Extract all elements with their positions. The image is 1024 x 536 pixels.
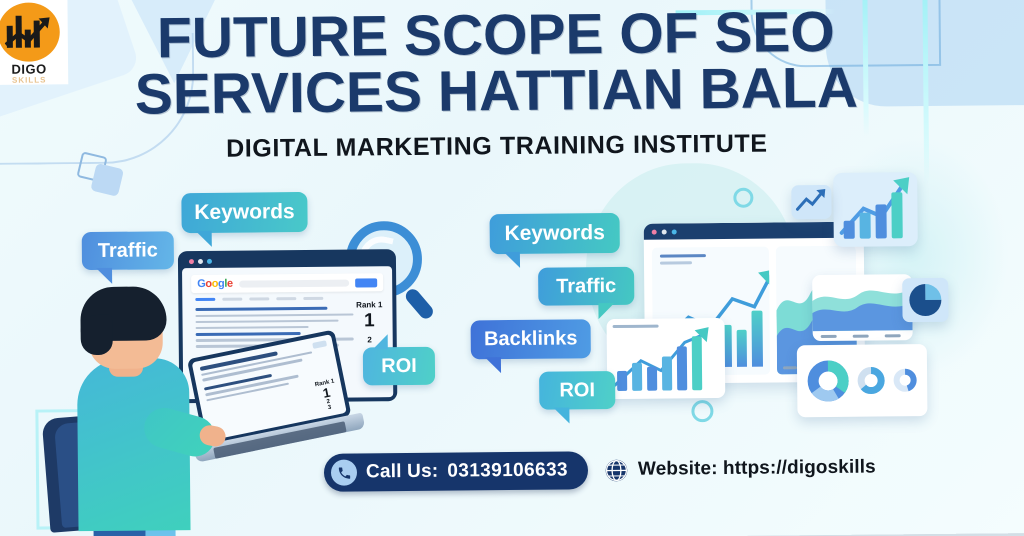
floating-card-donut-charts: [797, 344, 928, 417]
search-tab-2[interactable]: [222, 298, 242, 301]
phone-icon: [331, 459, 357, 485]
decor-square-filled: [90, 163, 124, 197]
bubble-keywords-right: Keywords: [490, 213, 620, 254]
floating-card-growth-chart: [833, 172, 918, 247]
website-group[interactable]: Website: https://digoskills: [604, 455, 876, 483]
illustration-analytics: [605, 165, 998, 449]
analytics-dot-blue: [672, 229, 677, 234]
donut-chart-large: [806, 359, 850, 403]
search-button[interactable]: [355, 278, 377, 287]
donut-chart-small: [892, 367, 918, 393]
logo-subtitle: SKILLS: [12, 76, 47, 84]
floating-card-pie-icon: [902, 278, 948, 322]
search-tab-4[interactable]: [276, 297, 296, 300]
decor-ring-2: [691, 400, 713, 422]
analytics-dot-gray: [662, 229, 667, 234]
floating-card-trend-icon: [791, 185, 831, 219]
poster-canvas: DIGO SKILLS FUTURE SCOPE OF SEO SERVICES…: [0, 0, 1024, 536]
bubble-roi-left: ROI: [363, 347, 435, 386]
brand-logo: DIGO SKILLS: [0, 0, 68, 85]
headline-subtitle: DIGITAL MARKETING TRAINING INSTITUTE: [0, 127, 1009, 166]
logo-name: DIGO: [11, 62, 46, 75]
phone-number: 03139106633: [447, 459, 568, 482]
floating-card-bar-arrow: [607, 318, 726, 399]
poster-card: DIGO SKILLS FUTURE SCOPE OF SEO SERVICES…: [0, 0, 1024, 536]
rank-position-top: 1: [356, 311, 382, 330]
search-input[interactable]: [239, 279, 350, 287]
headline-block: FUTURE SCOPE OF SEO SERVICES HATTIAN BAL…: [0, 3, 1009, 166]
floating-card-area-chart: [812, 274, 913, 341]
bubble-roi-right: ROI: [539, 371, 615, 410]
laptop-button[interactable]: [312, 340, 327, 349]
search-tab-all[interactable]: [195, 298, 215, 301]
window-dot-blue: [207, 259, 212, 264]
headline-line-2: SERVICES HATTIAN BALA: [0, 59, 1009, 125]
search-bar[interactable]: Google: [191, 273, 383, 293]
call-us-label: Call Us:: [366, 461, 439, 484]
google-logo: Google: [197, 278, 233, 290]
window-dot-red: [189, 259, 194, 264]
search-tab-5[interactable]: [303, 297, 323, 300]
bubble-keywords-left: Keywords: [181, 192, 307, 233]
rank-title: Rank 1: [356, 300, 382, 309]
website-text: Website: https://digoskills: [638, 457, 876, 481]
search-tabs: [191, 296, 383, 301]
globe-icon: [604, 457, 629, 482]
bubble-traffic-right: Traffic: [538, 267, 634, 306]
person-hair-side: [80, 315, 112, 355]
donut-chart-medium: [856, 365, 886, 395]
decor-ring-1: [733, 188, 753, 208]
bar-chart-arrow-icon: [0, 2, 60, 62]
analytics-dot-red: [652, 229, 657, 234]
laptop-ranking: Rank 1 1 2 3: [314, 378, 339, 412]
call-us-pill[interactable]: Call Us: 03139106633: [324, 451, 588, 492]
trend-up-icon: [791, 185, 831, 219]
bubble-traffic-left: Traffic: [82, 231, 174, 270]
search-tab-3[interactable]: [249, 297, 269, 300]
contact-bar: Call Us: 03139106633 Website: https://di…: [324, 449, 876, 492]
window-dot-gray: [198, 259, 203, 264]
bubble-backlinks-right: Backlinks: [471, 319, 591, 359]
pie-chart-icon: [902, 278, 948, 322]
person-illustration: [46, 286, 198, 529]
